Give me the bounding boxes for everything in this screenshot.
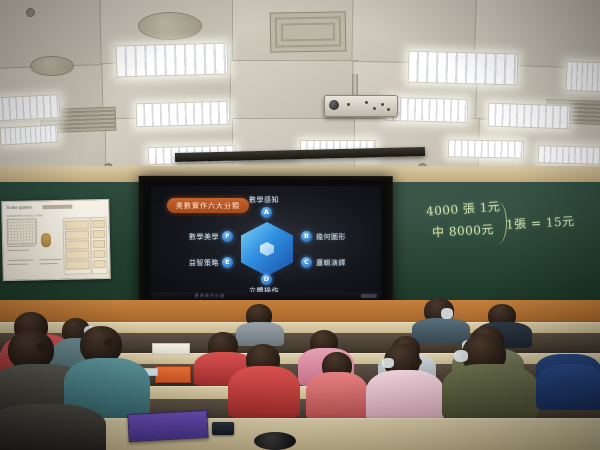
node-e: E <box>222 257 233 268</box>
chalk-line-3: 1張 = 15元 <box>506 212 575 233</box>
hair-tie <box>412 358 422 366</box>
black-disc-object <box>254 432 296 450</box>
ceiling-air-vent <box>270 11 347 52</box>
ceiling-light-panel <box>136 101 231 127</box>
person-body <box>306 372 368 420</box>
ceiling-light-panel <box>488 103 571 130</box>
person-body <box>228 366 300 418</box>
slide-title-pill: 奧數實作六大分類 <box>167 198 249 213</box>
ceiling-light-panel <box>448 139 524 158</box>
face-mask <box>454 350 468 362</box>
person-body <box>536 364 600 410</box>
seating-area <box>0 300 600 450</box>
slide-footer-label: 數學實作分類 <box>195 293 225 299</box>
person-body <box>412 318 470 344</box>
ceiling-light-panel <box>0 124 58 145</box>
node-f: F <box>222 231 233 242</box>
ceiling-light-panel <box>116 43 229 78</box>
poster-subtitle: worksheet activity sheet <box>6 213 43 218</box>
hexagon-diagram <box>233 218 301 280</box>
projection-screen: 奧數實作六大分類 A 數學感知 B 幾何圖形 C 邏輯演繹 D 立體操作 E 益… <box>139 176 393 310</box>
slide-content: 奧數實作六大分類 A 數學感知 B 幾何圖形 C 邏輯演繹 D 立體操作 E 益… <box>151 186 381 300</box>
orange-box <box>155 366 191 383</box>
stacked-papers <box>152 343 190 355</box>
smartphone-foreground <box>212 422 234 435</box>
node-a: A <box>261 207 272 218</box>
purple-notebook <box>127 410 208 442</box>
ceiling-light-panel <box>565 61 600 93</box>
ceiling-speaker <box>138 12 202 40</box>
node-c: C <box>301 257 312 268</box>
hair-tie <box>36 342 48 351</box>
classroom-photo: 4000 張 1元 中 8000元 1張 = 15元 Some games wo… <box>0 0 600 450</box>
ceiling-light-panel <box>538 145 600 165</box>
node-c-label: 邏輯演繹 <box>316 258 346 268</box>
ceiling-light-panel <box>408 51 519 86</box>
hair-tie <box>104 338 115 347</box>
node-d: D <box>261 274 272 285</box>
wall-poster: Some games worksheet activity sheet <box>1 199 111 281</box>
chalk-line-2: 中 8000元 <box>432 220 495 240</box>
slide-footer-badge <box>361 293 377 297</box>
ceiling <box>0 0 600 172</box>
person-body <box>236 322 284 346</box>
face-mask <box>382 358 394 368</box>
face-mask <box>441 308 453 319</box>
poster-illustration <box>41 233 51 247</box>
node-f-label: 數學美學 <box>189 232 219 242</box>
person-body-foreground <box>0 404 106 450</box>
smoke-detector-icon <box>26 8 35 17</box>
node-a-label: 數學感知 <box>249 195 279 205</box>
node-e-label: 益智策略 <box>189 258 219 268</box>
poster-grid <box>7 218 38 245</box>
person-body <box>442 364 538 420</box>
node-b: B <box>301 231 312 242</box>
node-b-label: 幾何圖形 <box>316 232 346 242</box>
ceiling-light-panel <box>0 94 61 122</box>
ceiling-light-panel <box>386 97 469 123</box>
poster-header-bar <box>42 205 72 210</box>
poster-title: Some games <box>6 206 32 212</box>
person-body <box>366 370 444 422</box>
slide-footer: 數學實作分類 <box>151 292 381 300</box>
projector-lens-icon <box>329 100 339 110</box>
chalk-writing: 4000 張 1元 中 8000元 1張 = 15元 <box>420 196 596 258</box>
ceiling-speaker <box>30 56 74 76</box>
